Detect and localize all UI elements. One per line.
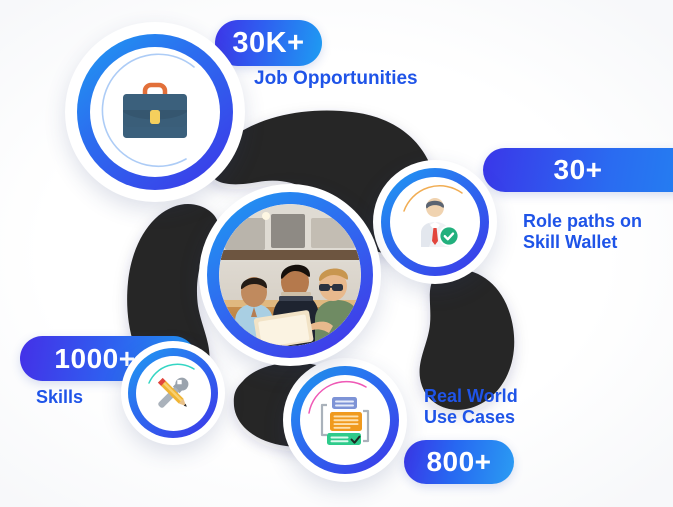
node-job-opportunities [65,22,245,202]
label-job-opportunities: Job Opportunities [254,68,418,90]
node-skills [121,341,225,445]
node-center-photo [199,184,381,366]
ring-use-cases [291,366,399,474]
label-skills: Skills [36,387,83,408]
badge-use-cases-count: 800+ [404,440,514,484]
ring-inner-center-photo [219,204,361,346]
label-real-world-use-cases: Real World Use Cases [424,386,518,428]
briefcase-icon [116,80,194,144]
ring-job-opportunities [77,34,233,190]
businessman-verified-icon [408,195,462,249]
node-real-world-use-cases [283,358,407,482]
ring-inner-skills [136,356,211,431]
stacked-cards-icon [314,391,376,449]
infographic-canvas: 30K+ 30+ 1000+ 800+ Job Opportunities Ro… [0,0,673,507]
wrench-pencil-icon [150,370,196,416]
ring-inner-job-opportunities [90,47,220,177]
ring-center-photo [207,192,373,358]
ring-inner-use-cases [300,375,390,465]
ring-role-paths [381,168,489,276]
label-role-paths: Role paths on Skill Wallet [523,211,642,253]
node-role-paths [373,160,497,284]
ring-skills [128,348,218,438]
badge-role-paths-count: 30+ [483,148,673,192]
badge-job-opportunities-count: 30K+ [215,20,322,66]
ring-inner-role-paths [390,177,480,267]
center-photo-image [219,204,361,346]
